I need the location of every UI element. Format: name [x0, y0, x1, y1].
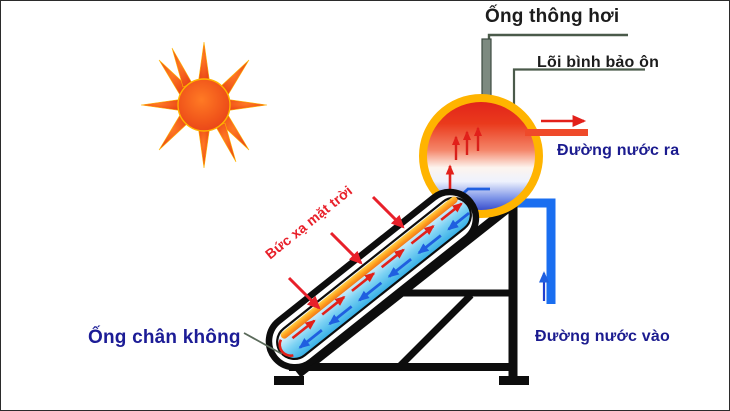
label-water-in: Đường nước vào	[535, 329, 670, 345]
frame-cross-brace	[399, 295, 471, 367]
hot-water-outlet-pipe	[525, 129, 588, 136]
frame-feet	[274, 376, 529, 385]
diagram-canvas: Ống thông hơi Lõi bình bảo ôn Đường nước…	[0, 0, 730, 411]
label-water-out: Đường nước ra	[557, 143, 679, 159]
leader-core	[514, 70, 645, 110]
sun-icon	[141, 42, 267, 168]
foot-right	[499, 376, 529, 385]
label-vent-pipe: Ống thông hơi	[485, 7, 619, 26]
leader-lines	[489, 35, 645, 109]
foot-left	[274, 376, 304, 385]
label-tank-core: Lõi bình bảo ôn	[537, 55, 659, 71]
cold-water-inlet-pipe	[495, 203, 551, 304]
label-vacuum-tube: Ống chân không	[88, 328, 241, 347]
